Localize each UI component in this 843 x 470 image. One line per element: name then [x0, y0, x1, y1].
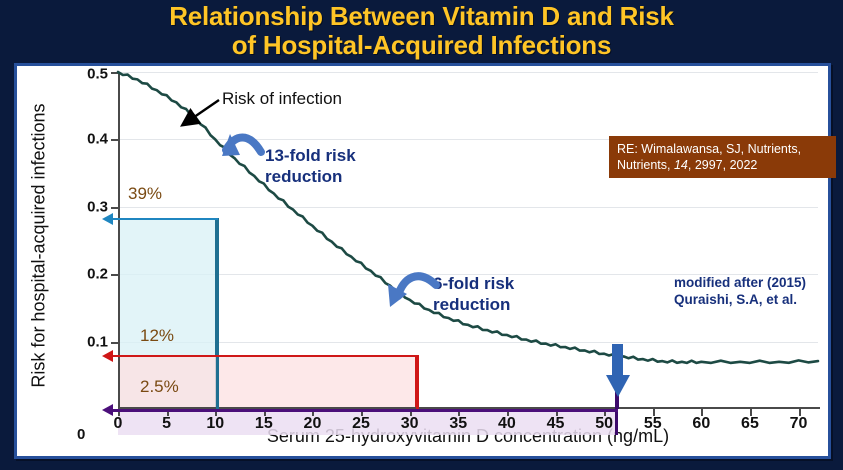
- x-tick-label-35: 35: [449, 415, 467, 433]
- chart-panel: Risk for hospital-acquired infections 0 …: [14, 63, 831, 459]
- threshold-line-10: [216, 218, 219, 409]
- plot-area: 0.5 0.4 0.3 0.2 0.1 05101520253035404550…: [118, 72, 818, 409]
- citation-rest: , 2997, 2022: [688, 158, 758, 172]
- label-39-percent: 39%: [128, 184, 162, 204]
- label-12-percent: 12%: [140, 326, 174, 346]
- risk-curve-line: [118, 72, 818, 363]
- x-tick-label-50: 50: [595, 415, 613, 433]
- y-tick-label-0.2: 0.2: [87, 266, 108, 283]
- y-tick-label-0.1: 0.1: [87, 334, 108, 351]
- attribution-line-1: modified after (2015): [674, 274, 806, 291]
- attribution-note: modified after (2015) Quraishi, S.A, et …: [674, 274, 806, 308]
- callout-6-fold-line1: 6-fold risk: [433, 273, 514, 294]
- origin-zero-label: 0: [77, 426, 85, 443]
- citation-journal: Nutrients,: [617, 158, 674, 172]
- x-tick-label-5: 5: [162, 415, 171, 433]
- risk-curve-svg: [118, 72, 818, 409]
- citation-box: RE: Wimalawansa, SJ, Nutrients, Nutrient…: [609, 136, 836, 178]
- citation-volume: 14: [674, 158, 688, 172]
- label-2.5-percent: 2.5%: [140, 377, 179, 397]
- citation-line-2: Nutrients, 14, 2997, 2022: [617, 157, 828, 173]
- x-tick-label-55: 55: [644, 415, 662, 433]
- x-tick-label-45: 45: [547, 415, 565, 433]
- callout-13-fold-line1: 13-fold risk: [265, 145, 356, 166]
- callout-6-fold-line2: reduction: [433, 294, 514, 315]
- threshold-line-50: [615, 382, 619, 409]
- page-title: Relationship Between Vitamin D and Risk …: [0, 2, 843, 60]
- x-tick-label-25: 25: [352, 415, 370, 433]
- x-tick-label-0: 0: [114, 415, 123, 433]
- x-tick-label-60: 60: [692, 415, 710, 433]
- attribution-line-2: Quraishi, S.A, et al.: [674, 291, 806, 308]
- x-tick-label-10: 10: [206, 415, 224, 433]
- y-tick-label-0.4: 0.4: [87, 131, 108, 148]
- citation-line-1: RE: Wimalawansa, SJ, Nutrients,: [617, 141, 828, 157]
- title-line-1: Relationship Between Vitamin D and Risk: [0, 2, 843, 31]
- x-tick-label-30: 30: [401, 415, 419, 433]
- y-axis-caption: Risk for hospital-acquired infections: [27, 80, 51, 410]
- callout-13-fold-line2: reduction: [265, 166, 356, 187]
- title-line-2: of Hospital-Acquired Infections: [0, 31, 843, 60]
- callout-13-fold: 13-fold risk reduction: [265, 145, 356, 187]
- arrow-2.5-percent: [102, 409, 618, 411]
- arrow-12-percent: [102, 355, 418, 357]
- x-tick-label-65: 65: [741, 415, 759, 433]
- threshold-line-30: [416, 355, 419, 409]
- y-axis-caption-text: Risk for hospital-acquired infections: [29, 103, 50, 387]
- x-tick-label-20: 20: [304, 415, 322, 433]
- arrow-39-percent: [102, 218, 218, 220]
- label-risk-of-infection: Risk of infection: [222, 89, 342, 109]
- y-tick-label-0.5: 0.5: [87, 66, 108, 83]
- x-tick-label-40: 40: [498, 415, 516, 433]
- callout-6-fold: 6-fold risk reduction: [433, 273, 514, 315]
- x-tick-label-70: 70: [790, 415, 808, 433]
- x-tick-label-15: 15: [255, 415, 273, 433]
